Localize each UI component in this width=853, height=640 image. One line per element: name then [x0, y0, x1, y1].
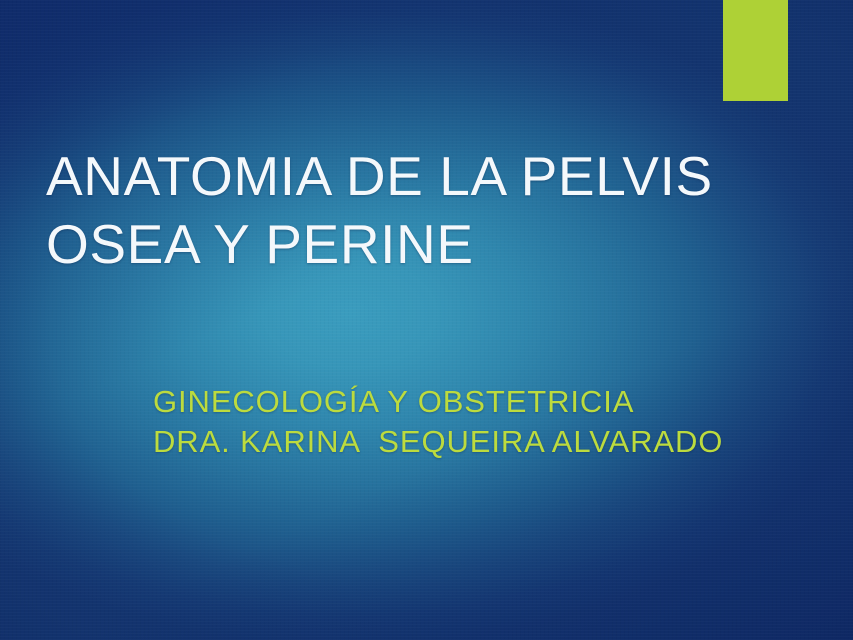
slide-subtitle-line-1: GINECOLOGÍA Y OBSTETRICIA [153, 382, 813, 422]
slide-title-line-1: ANATOMIA DE LA PELVIS [46, 142, 786, 210]
slide-title-line-2: OSEA Y PERINE [46, 210, 786, 278]
slide-subtitle-line-2: DRA. KARINA SEQUEIRA ALVARADO [153, 422, 813, 462]
slide-title: ANATOMIA DE LA PELVIS OSEA Y PERINE [46, 142, 786, 278]
slide-subtitle: GINECOLOGÍA Y OBSTETRICIA DRA. KARINA SE… [153, 382, 813, 462]
green-accent-rectangle [723, 0, 788, 101]
title-slide: ANATOMIA DE LA PELVIS OSEA Y PERINE GINE… [0, 0, 853, 640]
